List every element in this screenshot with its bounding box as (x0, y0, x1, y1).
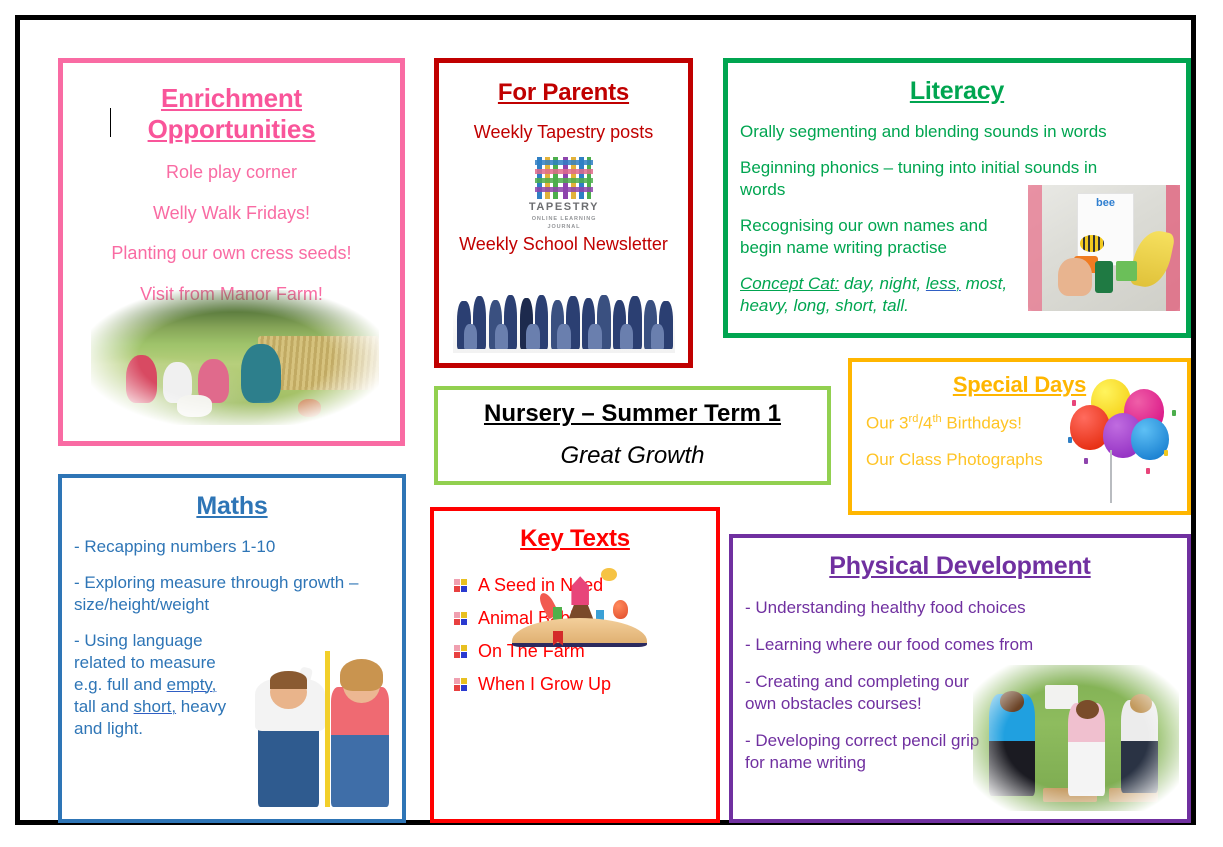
toy-green-block (1116, 261, 1137, 281)
literacy-box: Literacy Orally segmenting and blending … (723, 58, 1191, 338)
page-border-frame: Enrichment Opportunities Role play corne… (15, 15, 1196, 825)
bee-flashcard: bee (1077, 193, 1135, 266)
goat-figure (177, 395, 212, 417)
toy-green-tube (1095, 261, 1113, 294)
balloons-clipart (1063, 376, 1181, 508)
list-item: When I Grow Up (442, 674, 708, 695)
text-cursor-caret (110, 108, 111, 137)
sun-shape (601, 568, 617, 582)
castle-shape (571, 576, 589, 605)
book-pages (512, 618, 647, 647)
balloon-strings (1110, 450, 1112, 503)
page-title: Nursery – Summer Term 1 (446, 400, 819, 428)
special-days-box: Special Days Our 3rd/4th Birthdays! Our … (848, 358, 1191, 515)
literacy-title: Literacy (740, 77, 1174, 107)
toy-bee (1080, 235, 1104, 251)
maths-photo (246, 615, 398, 815)
maths-box: Maths - Recapping numbers 1-10 - Explori… (58, 474, 406, 823)
tapestry-weave-graphic (535, 157, 593, 199)
key-texts-title: Key Texts (442, 525, 708, 553)
child-head (1076, 700, 1099, 719)
physical-item: - Understanding healthy food choices (745, 597, 1175, 619)
open-book-icon (512, 566, 647, 651)
for-parents-item: Weekly Tapestry posts (447, 121, 680, 144)
enrichment-title: Enrichment Opportunities (73, 83, 390, 144)
maths-spellcheck-word: short, (134, 697, 177, 716)
child-head (1000, 691, 1025, 711)
maths-item: - Recapping numbers 1-10 (74, 536, 390, 558)
maths-spellcheck-word: empty, (167, 675, 217, 694)
physical-development-box: Physical Development - Understanding hea… (729, 534, 1191, 823)
tray-left-edge (1028, 185, 1042, 311)
key-text-label: When I Grow Up (478, 674, 611, 695)
enrichment-photo (91, 290, 379, 425)
physical-item: - Developing correct pencil grip for nam… (745, 730, 986, 774)
enrichment-opportunities-box: Enrichment Opportunities Role play corne… (58, 58, 405, 446)
physical-item: - Creating and completing our own obstac… (745, 671, 986, 715)
tapestry-logo-icon: TAPESTRY ONLINE LEARNING JOURNAL (525, 155, 603, 235)
tapestry-tagline: ONLINE LEARNING JOURNAL (525, 215, 603, 232)
for-parents-title: For Parents (447, 79, 680, 107)
literacy-item: Recognising our own names and begin name… (740, 215, 1009, 259)
key-texts-box: Key Texts A Seed in Need Anim (430, 507, 720, 823)
curriculum-map-page: Enrichment Opportunities Role play corne… (0, 0, 1223, 847)
tape-measure (325, 651, 330, 807)
maths-title: Maths (74, 492, 390, 522)
hot-air-balloon-shape (613, 600, 628, 619)
class-photo (453, 268, 675, 353)
literacy-concept-cat: Concept Cat: day, night, less, most, hea… (740, 273, 1026, 317)
for-parents-item: Weekly School Newsletter (447, 233, 680, 256)
concept-cat-words-before: day, night, (839, 274, 926, 293)
enrichment-title-line-2: Opportunities (148, 114, 316, 144)
pinwheel-bullet-icon (454, 678, 467, 691)
concept-cat-spellcheck-word: less, (926, 274, 961, 293)
boy-hair (270, 671, 306, 689)
child-figure (126, 355, 158, 404)
concept-cat-label: Concept Cat: (740, 274, 839, 293)
physical-development-photo (973, 665, 1179, 811)
enrichment-item: Planting our own cress seeds! (73, 242, 390, 265)
page-subtitle: Great Growth (446, 442, 819, 470)
girl-figure (331, 687, 389, 807)
enrichment-title-line-1: Enrichment (161, 83, 302, 113)
for-parents-box: For Parents Weekly Tapestry posts TAPEST (434, 58, 693, 368)
pinwheel-bullet-icon (454, 579, 467, 592)
maths-language-item: - Using language related to measure e.g.… (74, 630, 238, 740)
toy-doll (1058, 258, 1091, 296)
physical-development-title: Physical Development (745, 552, 1175, 582)
girl-hair (340, 659, 383, 691)
tapestry-wordmark: TAPESTRY (525, 201, 603, 213)
literacy-photo: bee (1028, 185, 1180, 311)
main-title-box: Nursery – Summer Term 1 Great Growth (434, 386, 831, 485)
physical-item: - Learning where our food comes from (745, 634, 1175, 656)
hen-figure (298, 399, 321, 417)
literacy-item: Orally segmenting and blending sounds in… (740, 121, 1165, 143)
child-figure (1121, 700, 1158, 793)
enrichment-item: Role play corner (73, 161, 390, 184)
adult-figure (241, 344, 281, 403)
pinwheel-bullet-icon (454, 612, 467, 625)
pinwheel-bullet-icon (454, 645, 467, 658)
enrichment-item: Welly Walk Fridays! (73, 202, 390, 225)
maths-item: - Exploring measure through growth – siz… (74, 572, 390, 616)
